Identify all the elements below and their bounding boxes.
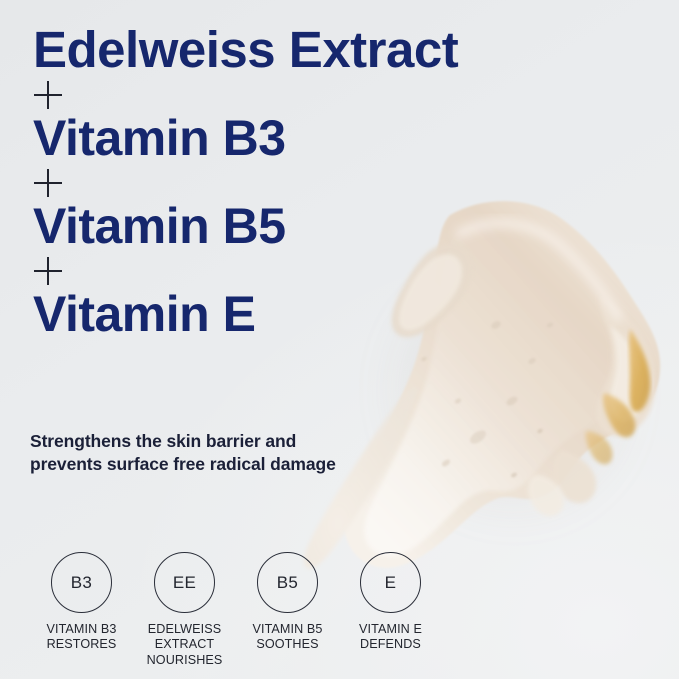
ingredient-badge-b5: B5 VITAMIN B5 SOOTHES <box>236 552 339 653</box>
badge-circle-b5: B5 <box>257 552 318 613</box>
badge-label-e: VITAMIN E DEFENDS <box>359 622 422 653</box>
ingredient-badge-e: E VITAMIN E DEFENDS <box>339 552 442 653</box>
badge-circle-e: E <box>360 552 421 613</box>
headline-vitamin-e: Vitamin E <box>33 289 503 339</box>
ingredient-badge-b3: B3 VITAMIN B3 RESTORES <box>30 552 133 653</box>
benefit-description-line-1: Strengthens the skin barrier and <box>30 430 360 453</box>
plus-icon <box>34 169 62 197</box>
plus-icon <box>34 81 62 109</box>
badge-abbr-e: E <box>385 573 397 593</box>
headline-stack: Edelweiss Extract Vitamin B3 Vitamin B5 … <box>33 24 503 339</box>
headline-vitamin-b5: Vitamin B5 <box>33 201 503 251</box>
benefit-description-line-2: prevents surface free radical damage <box>30 453 360 476</box>
badge-circle-b3: B3 <box>51 552 112 613</box>
benefit-description: Strengthens the skin barrier and prevent… <box>30 430 360 476</box>
badge-abbr-b3: B3 <box>71 573 92 593</box>
badge-label-b3: VITAMIN B3 RESTORES <box>46 622 116 653</box>
headline-vitamin-b3: Vitamin B3 <box>33 113 503 163</box>
ingredient-badge-ee: EE EDELWEISS EXTRACT NOURISHES <box>133 552 236 668</box>
headline-edelweiss-extract: Edelweiss Extract <box>33 24 503 75</box>
infographic-canvas: Edelweiss Extract Vitamin B3 Vitamin B5 … <box>0 0 679 679</box>
plus-icon <box>34 257 62 285</box>
badge-abbr-ee: EE <box>173 573 196 593</box>
ingredient-badge-row: B3 VITAMIN B3 RESTORES EE EDELWEISS EXTR… <box>30 552 450 668</box>
badge-circle-ee: EE <box>154 552 215 613</box>
badge-label-b5: VITAMIN B5 SOOTHES <box>252 622 322 653</box>
badge-abbr-b5: B5 <box>277 573 298 593</box>
badge-label-ee: EDELWEISS EXTRACT NOURISHES <box>147 622 223 668</box>
